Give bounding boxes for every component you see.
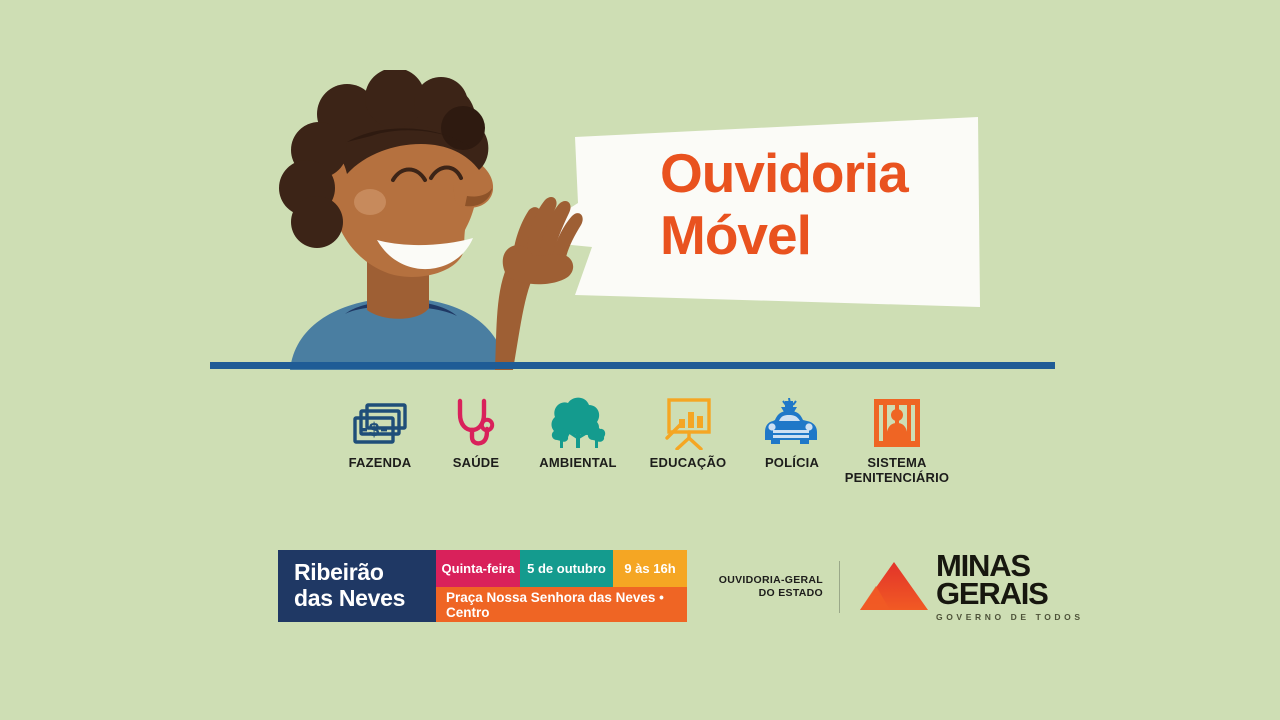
service-label: AMBIENTAL xyxy=(518,456,638,471)
hair-curl-7 xyxy=(291,196,343,248)
city-line-1: Ribeirão xyxy=(294,560,436,586)
hand xyxy=(503,197,583,284)
minas-gerais-logo: MINAS GERAIS GOVERNO DE TODOS xyxy=(856,552,1084,622)
services-row: $ FAZENDA SAÚDE xyxy=(320,392,960,497)
headline-line-2: Móvel xyxy=(660,205,1000,267)
headline: Ouvidoria Móvel xyxy=(660,143,1000,266)
service-educacao[interactable]: EDUCAÇÃO xyxy=(628,392,748,471)
event-info: Quinta-feira 5 de outubro 9 às 16h Praça… xyxy=(436,550,687,622)
state-tagline: GOVERNO DE TODOS xyxy=(936,612,1084,622)
hair-curl-4 xyxy=(441,106,485,150)
city-block: Ribeirão das Neves xyxy=(278,550,436,622)
date-chip: 5 de outubro xyxy=(520,550,613,587)
prisoner-behind-bars-icon xyxy=(832,392,962,450)
logo-divider xyxy=(839,561,840,613)
minas-gerais-wordmark: MINAS GERAIS GOVERNO DE TODOS xyxy=(936,552,1084,622)
ombudsman-line-2: DO ESTADO xyxy=(718,587,823,600)
state-line-2: GERAIS xyxy=(936,580,1084,608)
cheek xyxy=(354,189,386,215)
service-label: SISTEMA PENITENCIÁRIO xyxy=(832,456,962,486)
event-info-top: Quinta-feira 5 de outubro 9 às 16h xyxy=(436,550,687,587)
service-sistema-penitenciario[interactable]: SISTEMA PENITENCIÁRIO xyxy=(832,392,962,486)
poster-canvas: Ouvidoria Móvel xyxy=(0,0,1280,720)
ombudsman-line-1: OUVIDORIA-GERAL xyxy=(718,574,823,587)
logos-area: OUVIDORIA-GERAL DO ESTADO MINAS GERAIS G… xyxy=(718,556,1084,618)
service-ambiental[interactable]: AMBIENTAL xyxy=(518,392,638,471)
location-bar: Praça Nossa Senhora das Neves • Centro xyxy=(436,587,687,622)
hours-chip: 9 às 16h xyxy=(613,550,687,587)
headline-line-1: Ouvidoria xyxy=(660,142,908,204)
character-illustration xyxy=(195,70,625,370)
ombudsman-logo: OUVIDORIA-GERAL DO ESTADO xyxy=(718,574,823,600)
easel-chart-icon xyxy=(628,392,748,450)
city-line-2: das Neves xyxy=(294,586,436,612)
minas-gerais-mountain-icon xyxy=(856,558,930,616)
service-label: EDUCAÇÃO xyxy=(628,456,748,471)
trees-icon xyxy=(518,392,638,450)
weekday-chip: Quinta-feira xyxy=(436,550,520,587)
table-edge-line xyxy=(210,362,1055,369)
event-banner: Ribeirão das Neves Quinta-feira 5 de out… xyxy=(278,550,687,622)
svg-text:$: $ xyxy=(369,420,380,441)
